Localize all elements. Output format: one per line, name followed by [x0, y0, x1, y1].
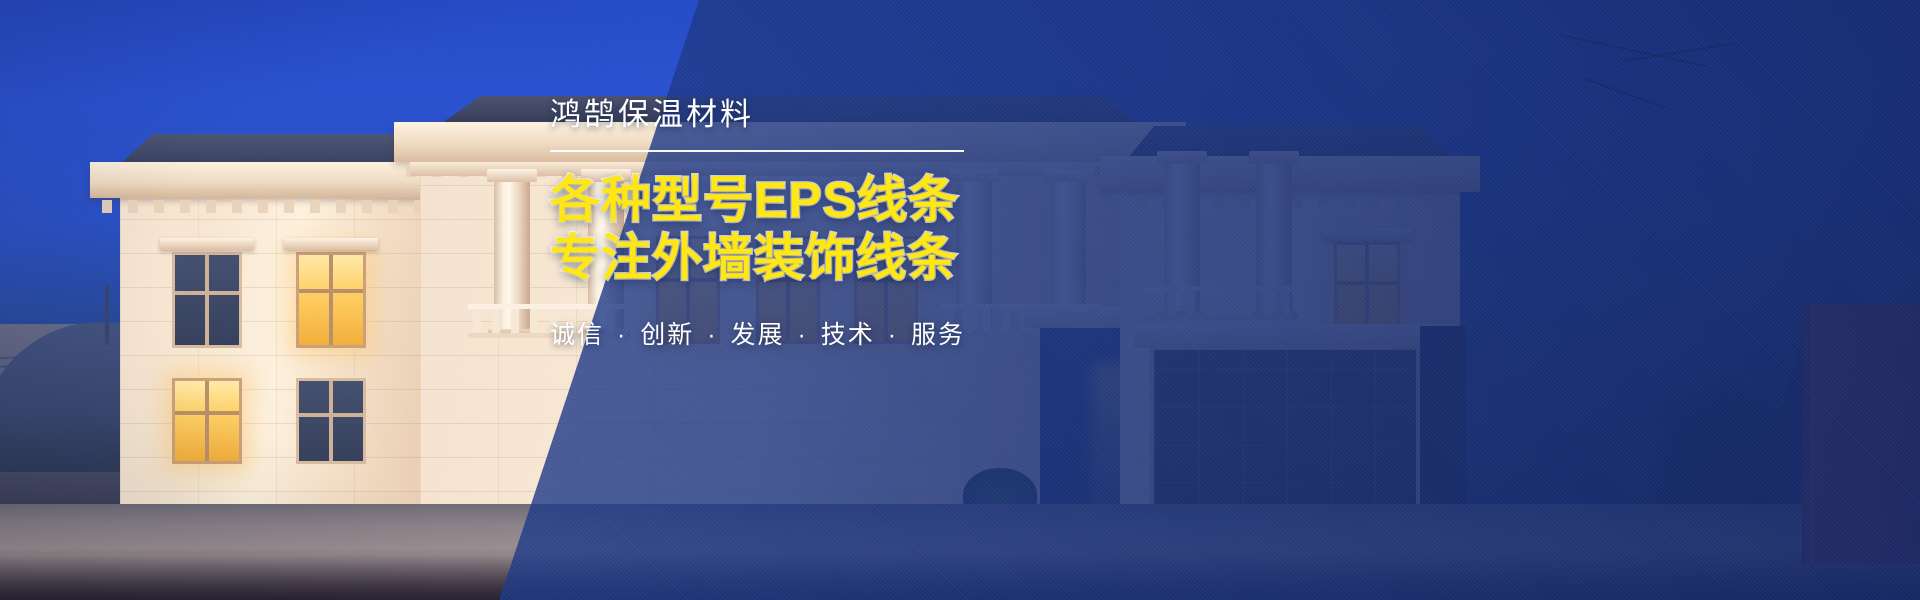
- tagline-separator-3: ·: [884, 321, 902, 349]
- headline-group: 各种型号EPS线条 专注外墙装饰线条: [550, 171, 1020, 287]
- tagline: 诚信 · 创新 · 发展 · 技术 · 服务: [550, 315, 1020, 351]
- divider-rule: [550, 150, 964, 152]
- tagline-item-2: 发展: [731, 321, 785, 349]
- tagline-item-0: 诚信: [550, 321, 604, 349]
- banner-text-block: 鸿鹄保温材料 各种型号EPS线条 专注外墙装饰线条 诚信 · 创新 · 发展 ·…: [550, 96, 1020, 351]
- headline-line-2: 专注外墙装饰线条: [550, 229, 1020, 287]
- tagline-item-3: 技术: [821, 321, 875, 349]
- headline-line-1: 各种型号EPS线条: [550, 171, 1020, 229]
- tagline-item-1: 创新: [640, 321, 694, 349]
- tagline-separator-1: ·: [703, 321, 721, 349]
- brand-name: 鸿鹄保温材料: [550, 96, 1020, 135]
- tagline-separator-2: ·: [793, 321, 811, 349]
- tagline-separator-0: ·: [613, 321, 631, 349]
- hero-banner: 鸿鹄保温材料 各种型号EPS线条 专注外墙装饰线条 诚信 · 创新 · 发展 ·…: [0, 0, 1920, 600]
- tagline-item-4: 服务: [911, 321, 965, 349]
